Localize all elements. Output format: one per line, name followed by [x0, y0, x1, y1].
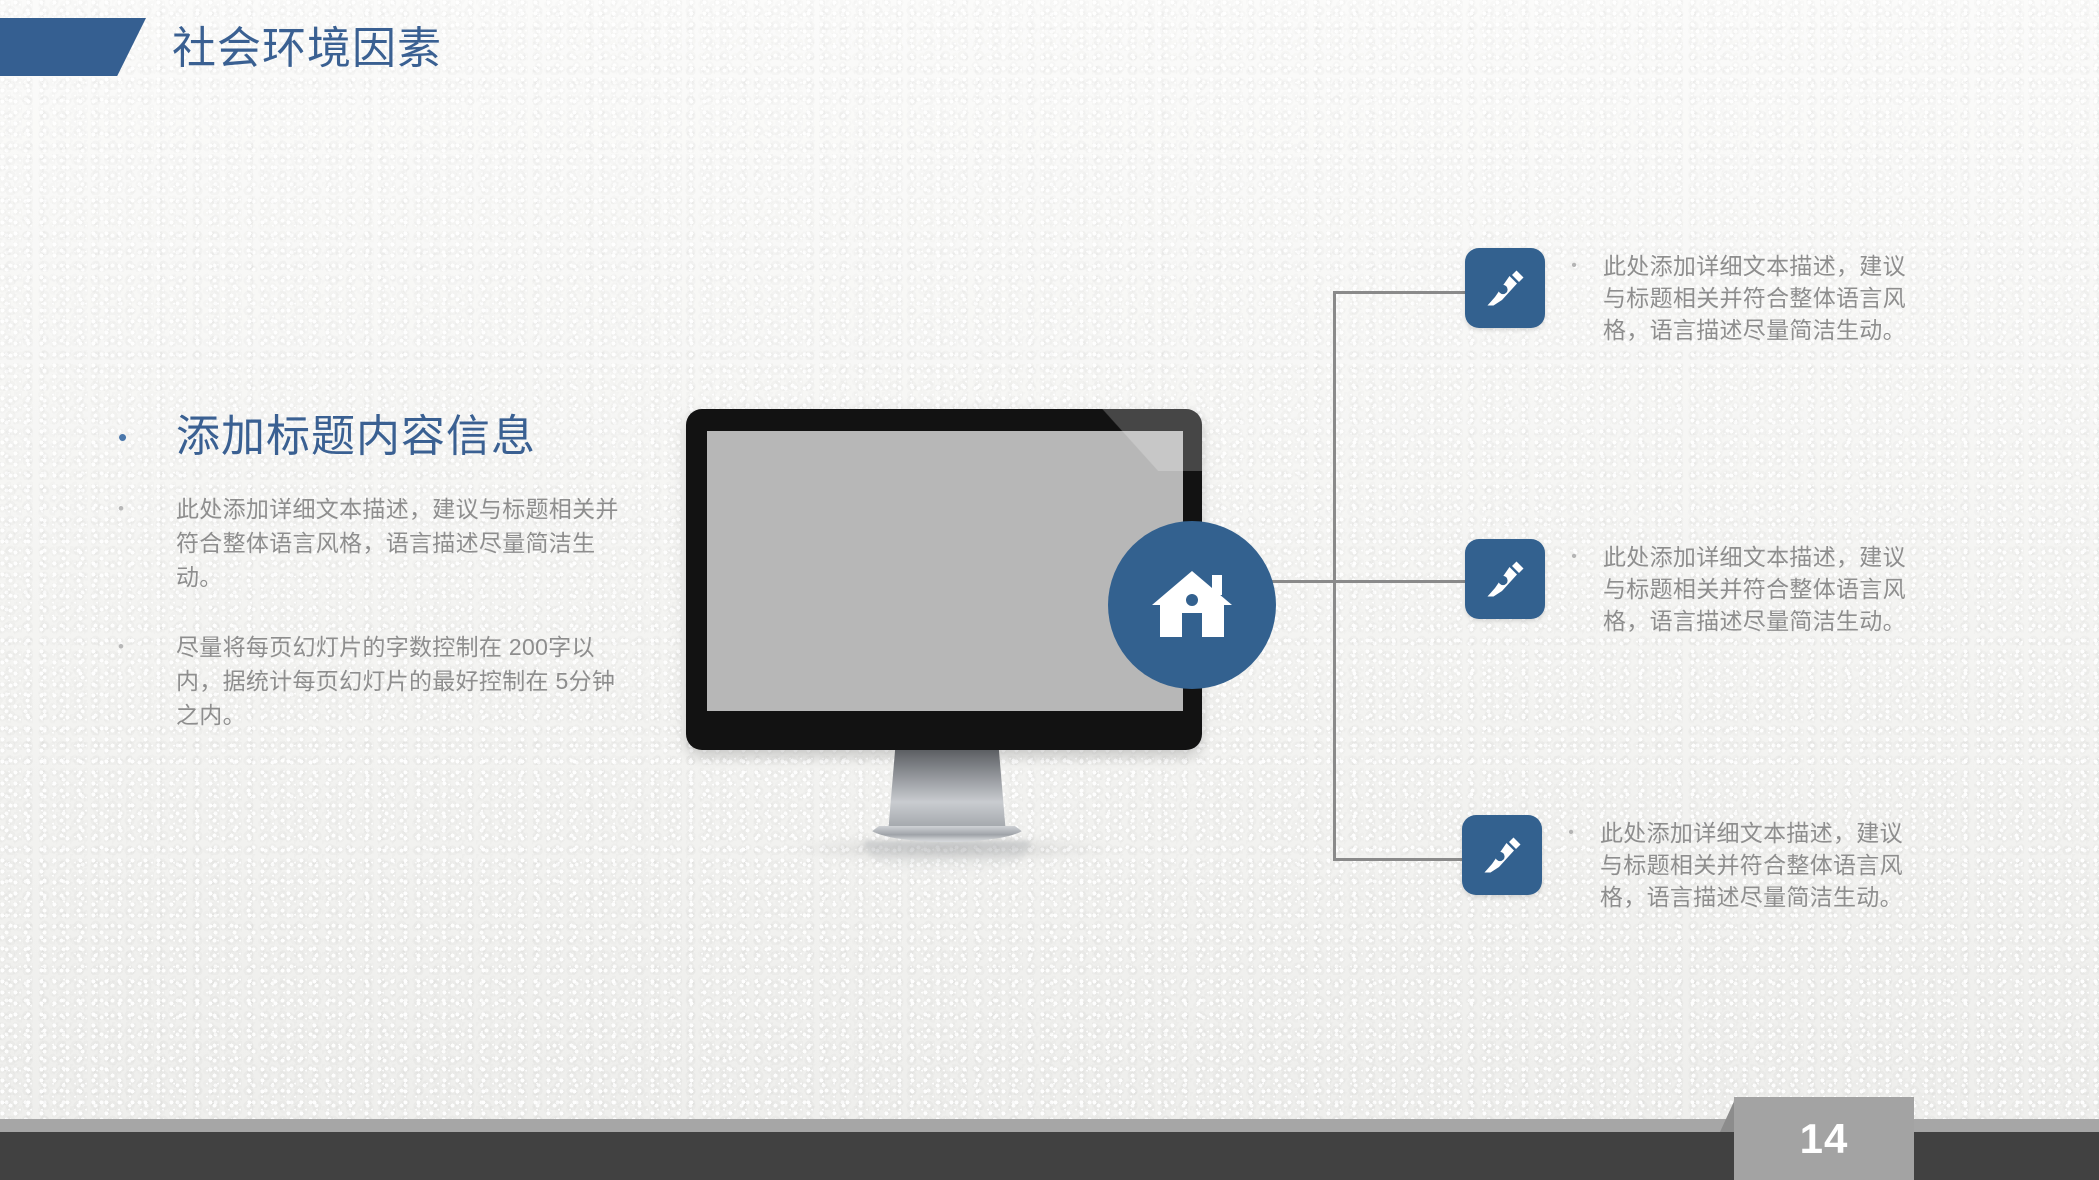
home-node[interactable] — [1108, 521, 1276, 689]
header-accent-shape — [0, 18, 146, 76]
bullet-icon: • — [118, 630, 176, 664]
bullet-icon: • — [118, 408, 176, 466]
pen-nib-icon[interactable] — [1465, 539, 1545, 619]
slide-canvas: 社会环境因素 • 添加标题内容信息 • 此处添加详细文本描述，建议与标题相关并符… — [0, 0, 2099, 1180]
page-number: 14 — [1800, 1097, 1849, 1180]
connector-trunk-line — [1333, 292, 1336, 860]
home-icon — [1144, 555, 1240, 656]
bullet-icon: • — [1545, 248, 1603, 282]
right-item-2[interactable]: • 此处添加详细文本描述，建议与标题相关并符合整体语言风格，语言描述尽量简洁生动… — [1465, 539, 1923, 637]
monitor-stand-neck — [888, 750, 1006, 834]
left-paragraph-text: 尽量将每页幻灯片的字数控制在 200字以内，据统计每页幻灯片的最好控制在 5分钟… — [176, 630, 638, 732]
right-item-1[interactable]: • 此处添加详细文本描述，建议与标题相关并符合整体语言风格，语言描述尽量简洁生动… — [1465, 248, 1923, 346]
left-paragraph-text: 此处添加详细文本描述，建议与标题相关并符合整体语言风格，语言描述尽量简洁生动。 — [176, 492, 638, 594]
bullet-icon: • — [1542, 815, 1600, 849]
connector-branch-middle — [1260, 580, 1471, 583]
right-item-text: 此处添加详细文本描述，建议与标题相关并符合整体语言风格，语言描述尽量简洁生动。 — [1600, 815, 1920, 913]
left-heading-text: 添加标题内容信息 — [176, 408, 536, 466]
left-heading-row: • 添加标题内容信息 — [118, 408, 638, 466]
bullet-icon: • — [118, 492, 176, 526]
right-item-text: 此处添加详细文本描述，建议与标题相关并符合整体语言风格，语言描述尽量简洁生动。 — [1603, 539, 1923, 637]
page-number-badge: 14 — [1734, 1097, 1914, 1180]
bullet-icon: • — [1545, 539, 1603, 573]
left-content-block: • 添加标题内容信息 • 此处添加详细文本描述，建议与标题相关并符合整体语言风格… — [118, 408, 638, 732]
monitor-screen — [707, 431, 1183, 711]
left-paragraph-row-1: • 此处添加详细文本描述，建议与标题相关并符合整体语言风格，语言描述尽量简洁生动… — [118, 492, 638, 594]
pen-nib-icon[interactable] — [1462, 815, 1542, 895]
right-item-3[interactable]: • 此处添加详细文本描述，建议与标题相关并符合整体语言风格，语言描述尽量简洁生动… — [1462, 815, 1920, 913]
connector-branch-bottom — [1333, 858, 1471, 861]
right-item-text: 此处添加详细文本描述，建议与标题相关并符合整体语言风格，语言描述尽量简洁生动。 — [1603, 248, 1923, 346]
pen-nib-icon[interactable] — [1465, 248, 1545, 328]
connector-branch-top — [1333, 291, 1471, 294]
monitor-stand-reflection — [864, 841, 1030, 877]
page-title: 社会环境因素 — [172, 22, 442, 76]
left-paragraph-row-2: • 尽量将每页幻灯片的字数控制在 200字以内，据统计每页幻灯片的最好控制在 5… — [118, 630, 638, 732]
